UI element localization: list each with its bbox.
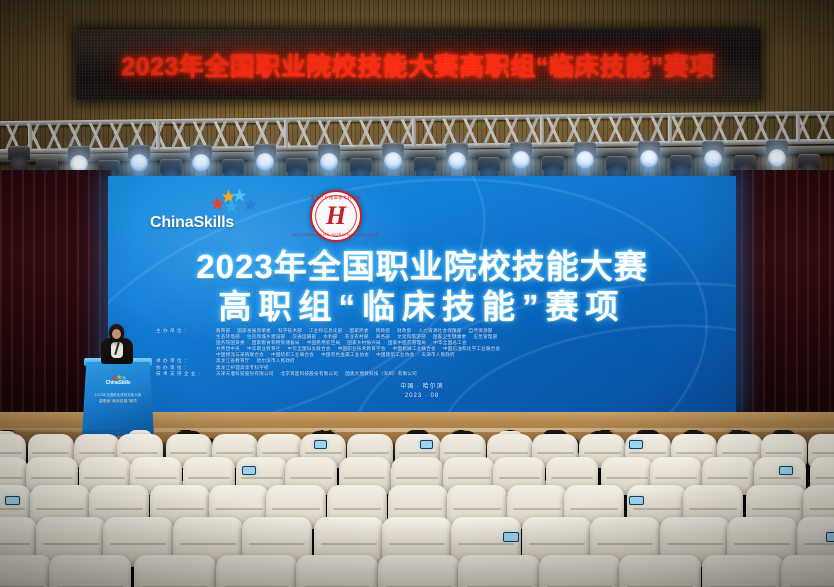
audience-phone-screen (242, 466, 256, 475)
credit-label: 技术支持企业： (156, 371, 216, 377)
credit-row: 技术支持企业：天津天堰科技股份有限公司北京筑医科技股份有限公司国奥大唐教科技（深… (156, 371, 702, 377)
stage-light (252, 144, 278, 174)
auditorium-seat (378, 555, 460, 587)
credit-value: 天津天堰科技股份有限公司北京筑医科技股份有限公司国奥大唐教科技（深圳）有限公司 (216, 371, 702, 377)
screen-title-sub: 高职组“临床技能”赛项 (108, 280, 736, 328)
audience-phone-screen (503, 532, 519, 542)
college-emblem-icon: 黑龙江护理高等专科学校 H HEILONGJIANG NURSING COLLE… (310, 190, 362, 242)
stage-light (188, 145, 214, 175)
auditorium-seat (296, 555, 378, 587)
podium-line-1: 2023年全国职业院校技能大赛 (86, 392, 150, 397)
audience-phone-screen (314, 440, 328, 449)
emblem-arc-top: 黑龙江护理高等专科学校 (311, 195, 362, 201)
audience-phone-screen (5, 496, 20, 505)
podium-line-2: 高职组“临床技能”赛项 (86, 399, 150, 404)
screen-date: 2023 · 08 (108, 392, 736, 401)
screen-logo-row: ChinaSkills 黑龙江护理高等专科学校 H HEILONGJIANG N… (150, 188, 440, 240)
auditorium-seat (458, 555, 540, 587)
auditorium-seat (134, 555, 216, 587)
auditorium-seat (781, 555, 834, 587)
photo-scene: 2023年全国职业院校技能大赛高职组“临床技能”赛项 (0, 0, 834, 587)
emblem-arc-bottom: HEILONGJIANG NURSING COLLEGE (293, 232, 379, 237)
podium-wordmark: ChinaSkills (82, 380, 154, 386)
audience-phone-screen (629, 496, 644, 505)
auditorium-seat (539, 555, 621, 587)
stage-light (508, 142, 534, 172)
auditorium-seat (216, 555, 298, 587)
screen-place-date: 中国 · 哈尔滨 2023 · 08 (108, 383, 736, 401)
speaker-person (100, 324, 134, 364)
audience-seating (0, 430, 834, 587)
stage-light (126, 145, 152, 175)
audience-phone-screen (629, 440, 643, 449)
auditorium-seat (0, 555, 52, 587)
chinaskills-stars-icon (210, 188, 262, 214)
audience-phone-screen (779, 466, 793, 475)
main-led-screen: ChinaSkills 黑龙江护理高等专科学校 H HEILONGJIANG N… (108, 176, 736, 412)
auditorium-seat (619, 555, 701, 587)
audience-phone-screen (826, 532, 834, 542)
stage-light (572, 142, 598, 172)
podium-chinaskills-stars-icon (112, 370, 128, 379)
audience-phone-screen (420, 440, 434, 449)
screen-place: 中国 · 哈尔滨 (108, 383, 736, 392)
stage-light (380, 143, 406, 173)
led-marquee-banner: 2023年全国职业院校技能大赛高职组“临床技能”赛项 (76, 29, 760, 100)
stage-light (316, 144, 342, 174)
credit-label: 主办单位： (156, 328, 216, 334)
stage-light (700, 141, 726, 171)
chinaskills-wordmark: ChinaSkills (150, 214, 234, 232)
screen-credits-block: 主办单位：教育部国家发展改革委科学技术部工业和信息化部国家民委民政部财政部人力资… (156, 328, 702, 377)
stage-light (636, 141, 662, 171)
stage-light (764, 140, 790, 170)
emblem-letter: H (326, 203, 346, 229)
led-banner-text: 2023年全国职业院校技能大赛高职组“临床技能”赛项 (76, 47, 760, 83)
lectern-podium: ChinaSkills 2023年全国职业院校技能大赛 高职组“临床技能”赛项 (82, 352, 154, 436)
auditorium-seat (702, 555, 784, 587)
auditorium-seat (49, 555, 131, 587)
stage-light (444, 143, 470, 173)
